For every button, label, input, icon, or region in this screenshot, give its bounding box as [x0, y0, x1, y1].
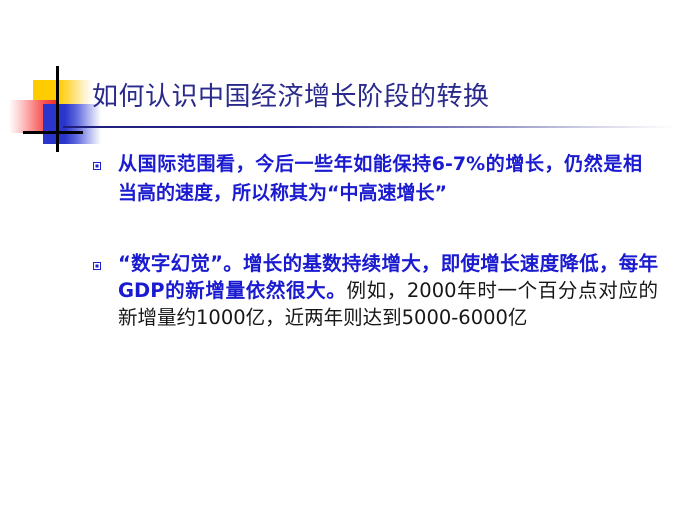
slide-canvas: 如何认识中国经济增长阶段的转换 从国际范围看，今后一些年如能保持6-7%的增长，… [0, 0, 680, 510]
red-square-icon [9, 100, 56, 133]
title-divider [63, 126, 675, 128]
vertical-rule-icon [56, 66, 59, 152]
yellow-square-icon [33, 80, 93, 124]
square-bullet-icon [93, 262, 101, 270]
slide-body: 从国际范围看，今后一些年如能保持6-7%的增长，仍然是相当高的速度，所以称其为“… [0, 150, 680, 331]
square-bullet-icon [93, 162, 101, 170]
bullet-one-text: 从国际范围看，今后一些年如能保持6-7%的增长，仍然是相当高的速度，所以称其为“… [118, 150, 642, 208]
horizontal-rule-icon [23, 131, 83, 134]
list-item: 从国际范围看，今后一些年如能保持6-7%的增长，仍然是相当高的速度，所以称其为“… [0, 150, 680, 208]
bullet-spacer [0, 208, 680, 250]
bullet-one-segment-blue: 从国际范围看，今后一些年如能保持6-7%的增长，仍然是相当高的速度，所以称其为“… [118, 153, 642, 204]
list-item: “数字幻觉”。增长的基数持续增大，即使增长速度降低，每年GDP的新增量依然很大。… [0, 250, 680, 331]
slide-title: 如何认识中国经济增长阶段的转换 [92, 76, 652, 113]
bullet-two-text: “数字幻觉”。增长的基数持续增大，即使增长速度降低，每年GDP的新增量依然很大。… [118, 250, 658, 331]
